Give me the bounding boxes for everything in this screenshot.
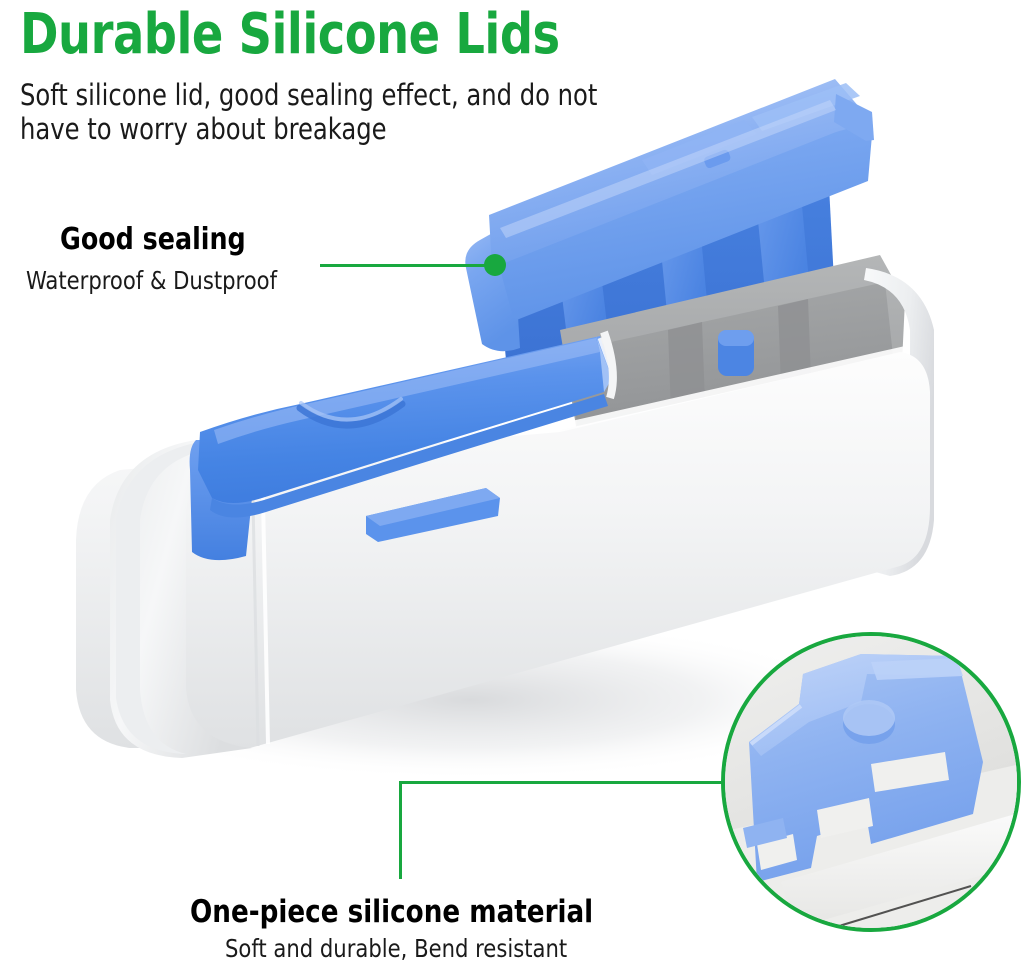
callout-material-subtitle: Soft and durable, Bend resistant [225, 934, 567, 963]
material-leader-line-horizontal [399, 781, 724, 784]
material-leader-line-vertical [399, 781, 402, 879]
page-title: Durable Silicone Lids [20, 2, 560, 67]
good-sealing-leader-line [320, 264, 488, 267]
silicone-lid-closeup-inset [721, 632, 1021, 932]
callout-material-title: One-piece silicone material [190, 894, 593, 930]
blue-latch-post [718, 330, 754, 376]
marketing-image-canvas: Durable Silicone Lids Soft silicone lid,… [0, 0, 1024, 967]
good-sealing-leader-dot [484, 254, 506, 276]
callout-good-sealing-subtitle: Waterproof & Dustproof [26, 266, 277, 295]
callout-good-sealing-title: Good sealing [60, 222, 246, 257]
page-subtitle: Soft silicone lid, good sealing effect, … [20, 78, 662, 146]
